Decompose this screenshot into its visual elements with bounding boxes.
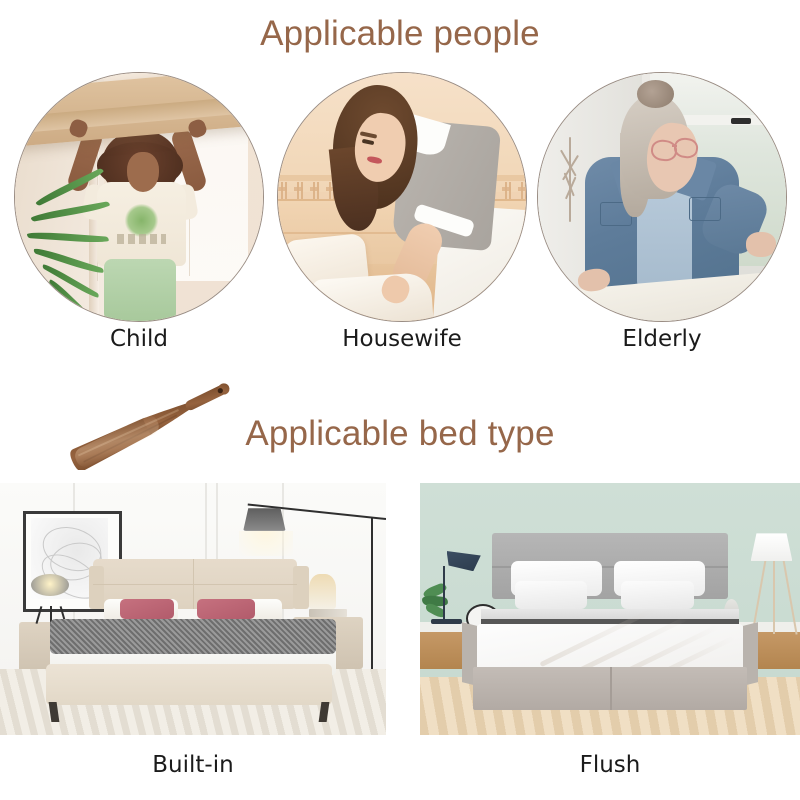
built-in-bed-photo[interactable] — [0, 483, 386, 735]
page-title-applicable-people: Applicable people — [0, 14, 800, 54]
housewife-photo-circle — [277, 72, 527, 322]
page-title-applicable-bed-type: Applicable bed type — [0, 414, 800, 454]
people-card-elderly[interactable] — [537, 72, 787, 322]
child-scene — [15, 73, 263, 321]
caption-flush: Flush — [420, 752, 800, 778]
palm-plant — [20, 192, 134, 321]
child-photo-circle — [14, 72, 264, 322]
caption-built-in: Built-in — [0, 752, 386, 778]
elderly-scene — [538, 73, 786, 321]
caption-elderly: Elderly — [537, 326, 787, 352]
plant-decor — [420, 576, 454, 624]
caption-child: Child — [14, 326, 264, 352]
housewife-scene — [278, 73, 526, 321]
applicable-bed-type-row — [0, 483, 800, 735]
people-card-child[interactable] — [14, 72, 264, 322]
dried-branch-decor — [550, 137, 590, 221]
infographic-page: Applicable people — [0, 0, 800, 800]
flush-bed-photo[interactable] — [420, 483, 800, 735]
people-card-housewife[interactable] — [277, 72, 527, 322]
elderly-photo-circle — [537, 72, 787, 322]
applicable-people-row — [0, 72, 800, 324]
caption-housewife: Housewife — [277, 326, 527, 352]
